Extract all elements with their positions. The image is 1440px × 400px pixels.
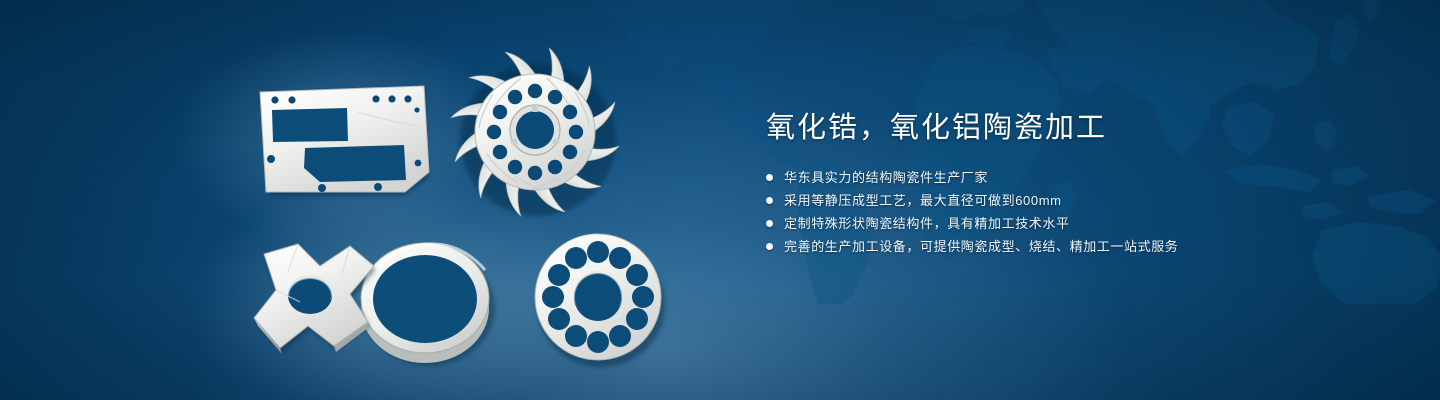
list-item-label: 华东具实力的结构陶瓷件生产厂家 <box>784 166 988 189</box>
ceramic-perforated-disc-image <box>535 234 665 367</box>
ceramic-ring-image <box>361 243 495 366</box>
ceramic-plate-image <box>260 86 429 196</box>
list-item: 采用等静压成型工艺，最大直径可做到600mm <box>766 189 1386 212</box>
list-item: 华东具实力的结构陶瓷件生产厂家 <box>766 166 1386 189</box>
list-item-label: 完善的生产加工设备，可提供陶瓷成型、烧结、精加工一站式服务 <box>784 235 1178 258</box>
banner-copy: 氧化锆，氧化铝陶瓷加工 华东具实力的结构陶瓷件生产厂家 采用等静压成型工艺，最大… <box>766 108 1386 258</box>
bullet-dot-icon <box>766 243 773 250</box>
bullet-dot-icon <box>766 174 773 181</box>
list-item-label: 定制特殊形状陶瓷结构件，具有精加工技术水平 <box>784 212 1070 235</box>
bullet-dot-icon <box>766 220 773 227</box>
product-images-group <box>0 0 720 400</box>
hero-banner: 氧化锆，氧化铝陶瓷加工 华东具实力的结构陶瓷件生产厂家 采用等静压成型工艺，最大… <box>0 0 1440 400</box>
list-item: 完善的生产加工设备，可提供陶瓷成型、烧结、精加工一站式服务 <box>766 235 1386 258</box>
feature-list: 华东具实力的结构陶瓷件生产厂家 采用等静压成型工艺，最大直径可做到600mm 定… <box>766 166 1386 258</box>
bullet-dot-icon <box>766 197 773 204</box>
list-item-label: 采用等静压成型工艺，最大直径可做到600mm <box>784 189 1062 212</box>
list-item: 定制特殊形状陶瓷结构件，具有精加工技术水平 <box>766 212 1386 235</box>
page-title: 氧化锆，氧化铝陶瓷加工 <box>766 108 1386 148</box>
